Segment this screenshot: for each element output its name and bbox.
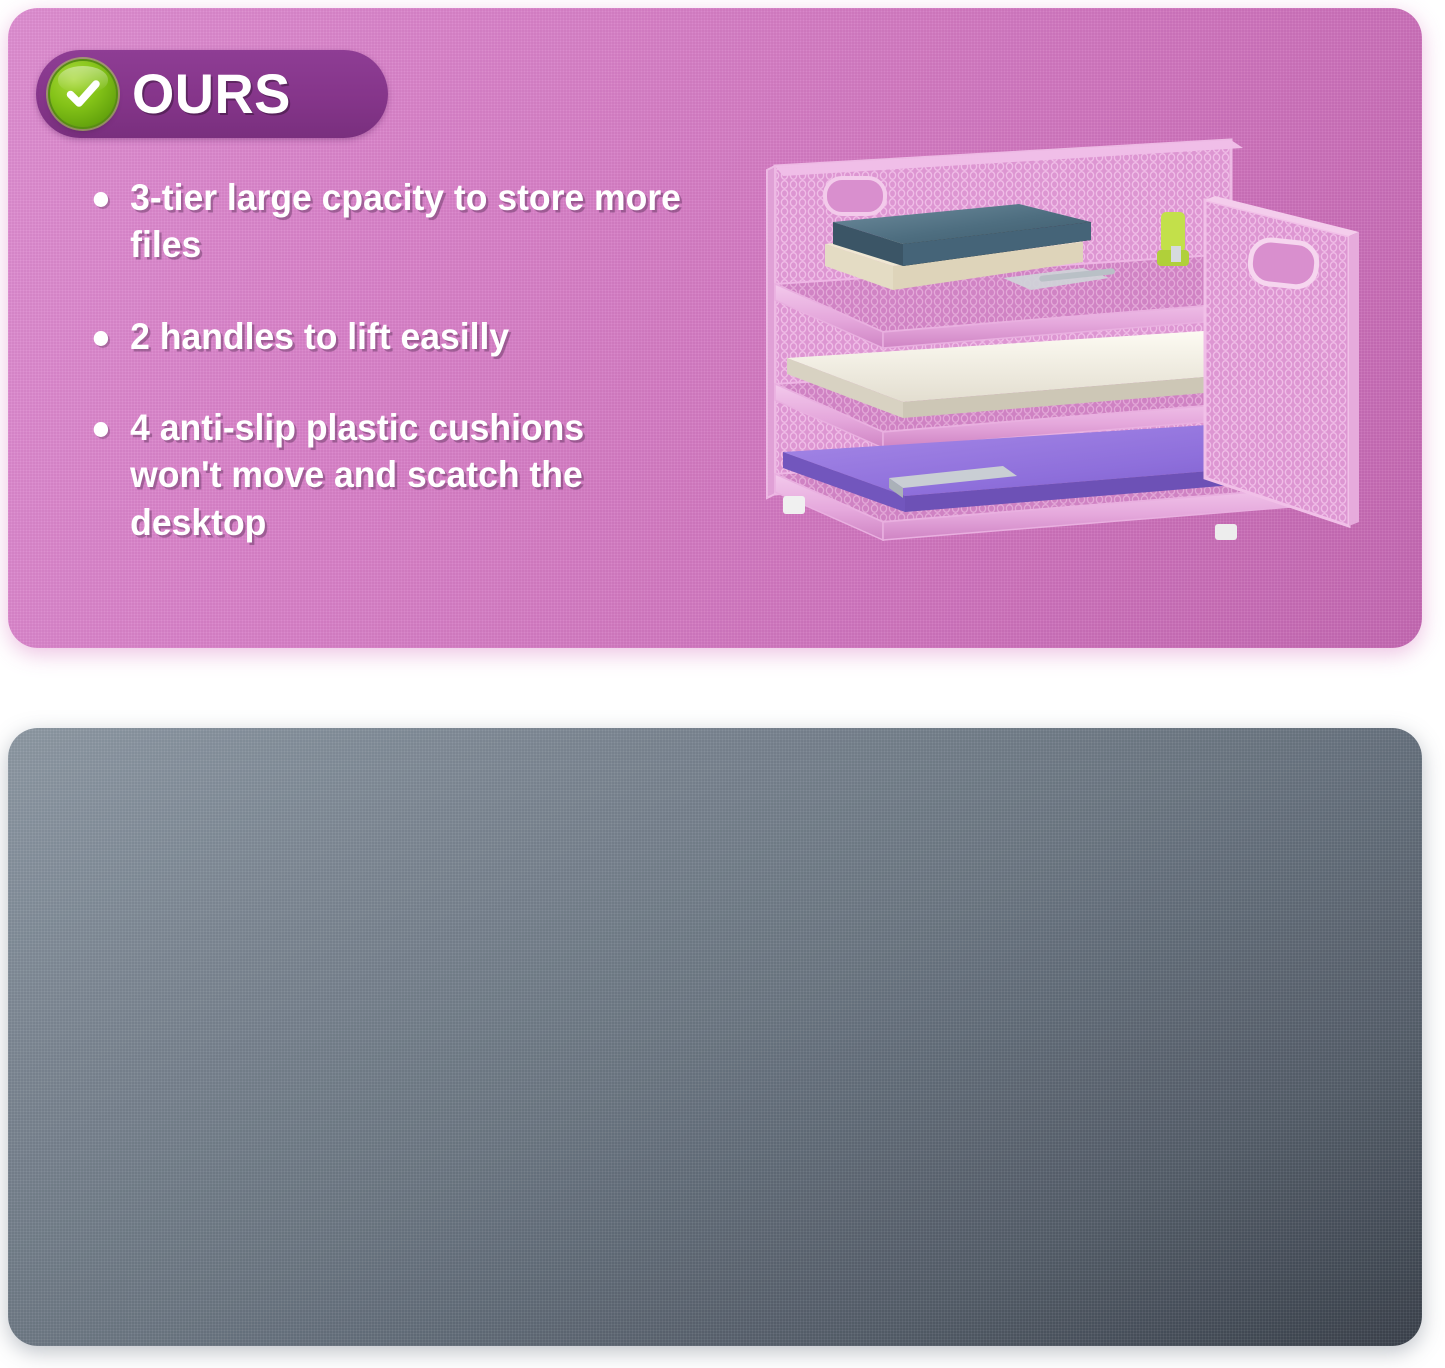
bullet-dot-icon bbox=[94, 331, 108, 346]
bullet-dot-icon bbox=[94, 192, 108, 207]
product-image-pink-organizer bbox=[753, 126, 1373, 546]
list-item-label: 2 handles to lift easilly bbox=[130, 316, 509, 357]
list-item: 2 handles to lift easilly bbox=[86, 313, 681, 360]
badge-ours-label: OURS bbox=[132, 66, 291, 122]
bullet-dot-icon bbox=[94, 422, 108, 437]
infographic-stage: OURS 3-tier large cpacity to store more … bbox=[0, 0, 1445, 1368]
list-item: 3-tier large cpacity to store more files bbox=[86, 174, 681, 269]
panel-others: OTHERS Only 2 tiers No handles,hard to u… bbox=[8, 728, 1422, 1346]
list-item-label: 4 anti-slip plastic cushions won't move … bbox=[130, 407, 584, 543]
panel-ours: OURS 3-tier large cpacity to store more … bbox=[8, 8, 1422, 648]
check-circle-icon bbox=[50, 61, 116, 127]
badge-ours: OURS bbox=[36, 50, 388, 138]
list-item: 4 anti-slip plastic cushions won't move … bbox=[86, 404, 681, 546]
list-item-label: 3-tier large cpacity to store more files bbox=[130, 177, 681, 265]
bullet-list-ours: 3-tier large cpacity to store more files… bbox=[86, 174, 706, 546]
panel-texture-others bbox=[8, 728, 1422, 1346]
